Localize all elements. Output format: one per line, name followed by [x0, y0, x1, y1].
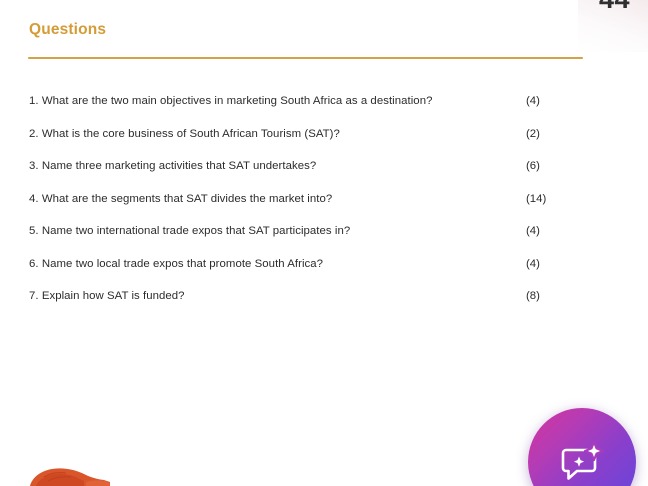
question-text: 4. What are the segments that SAT divide… [29, 192, 332, 206]
question-text: 3. Name three marketing activities that … [29, 159, 316, 173]
heading-divider [28, 57, 583, 59]
question-marks: (4) [526, 257, 556, 271]
page-number: 44 [599, 0, 630, 13]
question-text: 6. Name two local trade expos that promo… [29, 257, 323, 271]
question-item: 2. What is the core business of South Af… [29, 127, 584, 160]
document-page: 44 Questions 1. What are the two main ob… [0, 0, 648, 486]
question-item: 1. What are the two main objectives in m… [29, 94, 584, 127]
ai-assistant-button[interactable] [528, 408, 636, 486]
orange-illustration-clip-icon [26, 464, 112, 486]
question-item: 3. Name three marketing activities that … [29, 159, 584, 192]
question-item: 4. What are the segments that SAT divide… [29, 192, 584, 225]
questions-list: 1. What are the two main objectives in m… [29, 94, 584, 322]
question-marks: (4) [526, 224, 556, 238]
question-marks: (8) [526, 289, 556, 303]
page-title: Questions [29, 21, 106, 38]
question-text: 5. Name two international trade expos th… [29, 224, 350, 238]
question-item: 5. Name two international trade expos th… [29, 224, 584, 257]
question-item: 7. Explain how SAT is funded? (8) [29, 289, 584, 322]
chat-bubble-sparkle-icon [556, 436, 608, 486]
question-marks: (4) [526, 94, 556, 108]
question-item: 6. Name two local trade expos that promo… [29, 257, 584, 290]
question-text: 2. What is the core business of South Af… [29, 127, 340, 141]
question-marks: (6) [526, 159, 556, 173]
question-marks: (2) [526, 127, 556, 141]
question-marks: (14) [526, 192, 556, 206]
question-text: 7. Explain how SAT is funded? [29, 289, 185, 303]
question-text: 1. What are the two main objectives in m… [29, 94, 432, 108]
